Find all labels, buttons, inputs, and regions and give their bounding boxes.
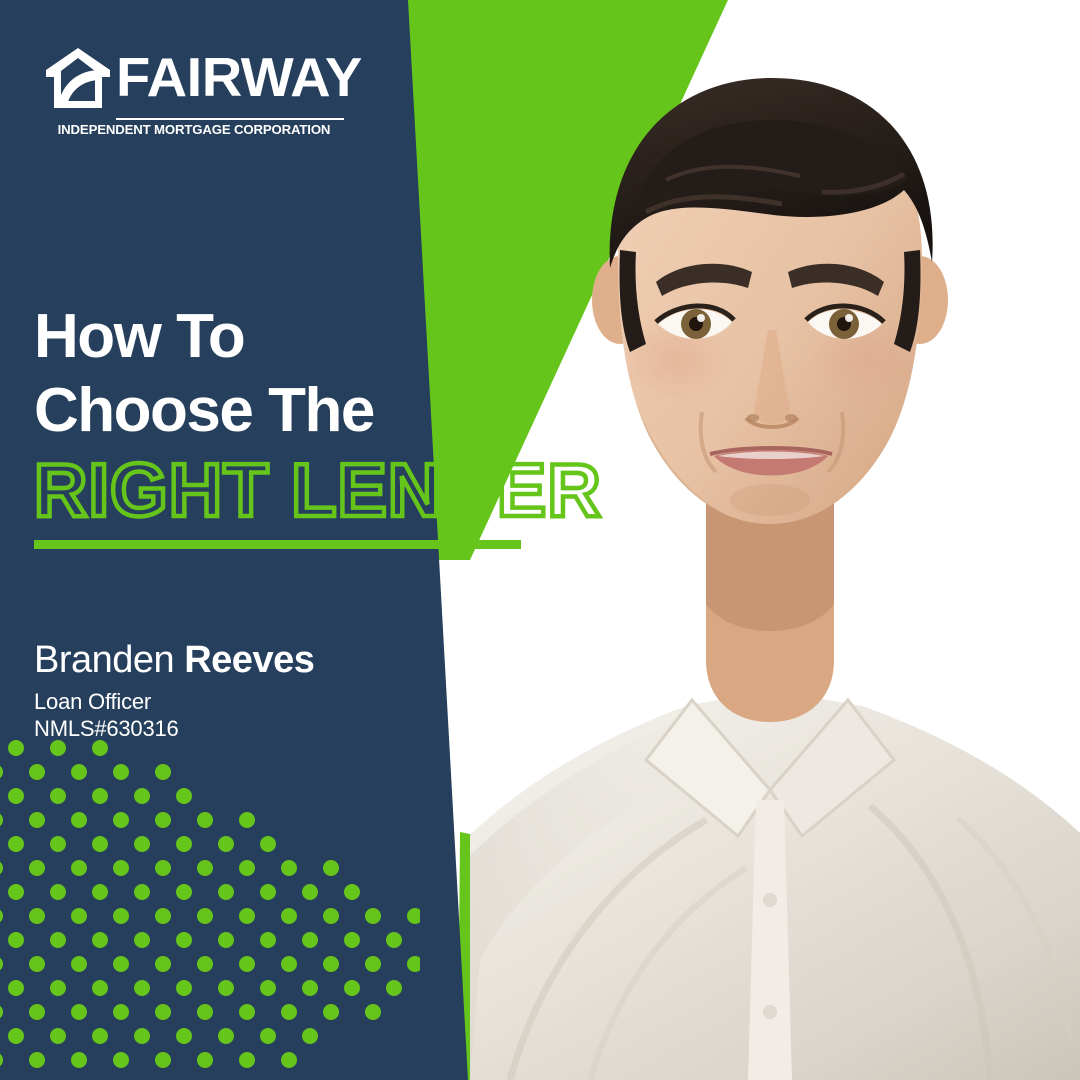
pattern-dot xyxy=(71,764,87,780)
pattern-dot xyxy=(113,908,129,924)
pattern-dot xyxy=(260,836,276,852)
pattern-dot xyxy=(0,1052,3,1068)
pattern-dot xyxy=(155,1052,171,1068)
pattern-dot xyxy=(155,956,171,972)
nostril-left xyxy=(747,414,759,422)
pattern-dot xyxy=(386,932,402,948)
pattern-dot xyxy=(155,812,171,828)
pattern-dot xyxy=(281,908,297,924)
pattern-dot xyxy=(239,860,255,876)
pattern-dot xyxy=(197,1052,213,1068)
pattern-dot xyxy=(155,908,171,924)
agent-first-name: Branden xyxy=(34,639,174,681)
pattern-dot xyxy=(155,1004,171,1020)
pattern-dot xyxy=(29,1004,45,1020)
pattern-dot xyxy=(176,932,192,948)
pattern-dot xyxy=(155,764,171,780)
pattern-dot xyxy=(50,740,66,756)
pattern-dot xyxy=(239,956,255,972)
pattern-dot xyxy=(50,836,66,852)
pattern-dot xyxy=(218,884,234,900)
pattern-dot xyxy=(113,860,129,876)
pattern-dot xyxy=(8,740,24,756)
headline-accent: RIGHT LENDER xyxy=(34,449,616,531)
logo-wordmark: FAIRWAY xyxy=(116,42,362,112)
pattern-dot xyxy=(92,980,108,996)
pattern-dot xyxy=(365,956,381,972)
pattern-dot xyxy=(0,908,3,924)
pattern-dot xyxy=(134,1028,150,1044)
pattern-dot xyxy=(0,956,3,972)
pattern-dot xyxy=(302,884,318,900)
pattern-dot xyxy=(239,1052,255,1068)
pattern-dot xyxy=(134,980,150,996)
pattern-dot xyxy=(260,980,276,996)
pattern-dot xyxy=(134,932,150,948)
pattern-dot xyxy=(71,908,87,924)
pattern-dot xyxy=(407,956,420,972)
logo-tagline: INDEPENDENT MORTGAGE CORPORATION xyxy=(44,122,344,137)
headline-line-2: Choose The xyxy=(34,374,554,448)
pattern-dot xyxy=(218,1028,234,1044)
pattern-dot xyxy=(92,932,108,948)
pattern-dot xyxy=(197,812,213,828)
fairway-house-swoosh-icon xyxy=(44,46,112,112)
pattern-dot xyxy=(29,764,45,780)
pattern-dot xyxy=(29,956,45,972)
pattern-dot xyxy=(92,788,108,804)
pattern-dot xyxy=(218,836,234,852)
headline-accent-underline xyxy=(34,540,521,549)
agent-nmls-number: NMLS#630316 xyxy=(34,715,464,743)
pattern-dot xyxy=(113,1004,129,1020)
pattern-dot xyxy=(134,836,150,852)
chin-shadow xyxy=(730,484,810,516)
pattern-dot xyxy=(197,956,213,972)
pattern-dot xyxy=(386,980,402,996)
pattern-dot xyxy=(218,980,234,996)
pattern-dot xyxy=(281,1004,297,1020)
pattern-dot xyxy=(113,956,129,972)
agent-job-title: Loan Officer xyxy=(34,688,464,715)
pattern-dot xyxy=(50,788,66,804)
pattern-dot xyxy=(281,956,297,972)
pattern-dot xyxy=(92,884,108,900)
agent-last-name: Reeves xyxy=(184,639,314,681)
pattern-dot xyxy=(113,812,129,828)
pattern-dot xyxy=(197,860,213,876)
pattern-dot xyxy=(50,980,66,996)
pattern-dot xyxy=(323,860,339,876)
headline-block: How To Choose The RIGHT LENDER xyxy=(34,300,554,526)
pattern-dot xyxy=(134,884,150,900)
pattern-dot xyxy=(407,908,420,924)
pattern-dot xyxy=(365,1004,381,1020)
pattern-dot xyxy=(176,884,192,900)
portrait-illustration xyxy=(470,0,1080,1080)
pattern-dot xyxy=(8,980,24,996)
pattern-dot xyxy=(8,788,24,804)
agent-photo xyxy=(470,0,1080,1080)
pattern-dot xyxy=(50,1028,66,1044)
pattern-dot xyxy=(323,908,339,924)
pattern-dot xyxy=(8,932,24,948)
pattern-dot xyxy=(344,884,360,900)
pattern-dot xyxy=(113,1052,129,1068)
nostril-right xyxy=(785,414,797,422)
pattern-dot xyxy=(260,932,276,948)
pattern-dot xyxy=(260,884,276,900)
pattern-dot xyxy=(50,884,66,900)
pattern-dot xyxy=(0,1004,3,1020)
pattern-dot xyxy=(0,860,3,876)
pattern-dot xyxy=(155,860,171,876)
pattern-dot xyxy=(218,932,234,948)
pattern-dot xyxy=(365,908,381,924)
pattern-dot xyxy=(71,812,87,828)
pattern-dot xyxy=(197,908,213,924)
pattern-dot xyxy=(71,860,87,876)
pattern-dot xyxy=(134,788,150,804)
agent-name: Branden Reeves xyxy=(34,637,464,683)
pattern-dot xyxy=(239,1004,255,1020)
pattern-dot xyxy=(302,980,318,996)
pattern-dot xyxy=(92,1028,108,1044)
pattern-dot xyxy=(302,932,318,948)
pattern-dot xyxy=(71,956,87,972)
pattern-dot xyxy=(71,1052,87,1068)
pattern-dot xyxy=(323,956,339,972)
fairway-logo[interactable]: FAIRWAY INDEPENDENT MORTGAGE CORPORATION xyxy=(44,46,344,142)
pattern-dot xyxy=(29,812,45,828)
pattern-dot xyxy=(176,836,192,852)
pattern-dot xyxy=(239,908,255,924)
shirt-button xyxy=(763,1005,777,1019)
green-dot-diamond-pattern xyxy=(0,740,420,1080)
logo-divider-rule xyxy=(116,118,344,120)
pattern-dot xyxy=(176,1028,192,1044)
pattern-dot xyxy=(344,980,360,996)
pattern-dot xyxy=(281,1052,297,1068)
pattern-dot xyxy=(344,932,360,948)
pattern-dot xyxy=(302,1028,318,1044)
pattern-dot xyxy=(29,860,45,876)
pattern-dot xyxy=(92,836,108,852)
shirt-button xyxy=(763,893,777,907)
pattern-dot xyxy=(92,740,108,756)
pattern-dot xyxy=(260,1028,276,1044)
pattern-dot xyxy=(50,932,66,948)
pattern-dot xyxy=(323,1004,339,1020)
pattern-dot xyxy=(8,1028,24,1044)
pattern-dot xyxy=(281,860,297,876)
pattern-dot xyxy=(176,980,192,996)
pattern-dot xyxy=(176,788,192,804)
pattern-dot xyxy=(8,884,24,900)
pattern-dot xyxy=(197,1004,213,1020)
pattern-dot xyxy=(29,1052,45,1068)
pattern-dot xyxy=(29,908,45,924)
pattern-dot xyxy=(8,836,24,852)
pattern-dot xyxy=(71,1004,87,1020)
pattern-dot xyxy=(239,812,255,828)
pattern-dot xyxy=(113,764,129,780)
agent-info-block: Branden Reeves Loan Officer NMLS#630316 xyxy=(34,637,464,743)
headline-line-1: How To xyxy=(34,300,554,374)
pattern-dot xyxy=(0,812,3,828)
marketing-flyer: FAIRWAY INDEPENDENT MORTGAGE CORPORATION… xyxy=(0,0,1080,1080)
pattern-dot xyxy=(0,764,3,780)
